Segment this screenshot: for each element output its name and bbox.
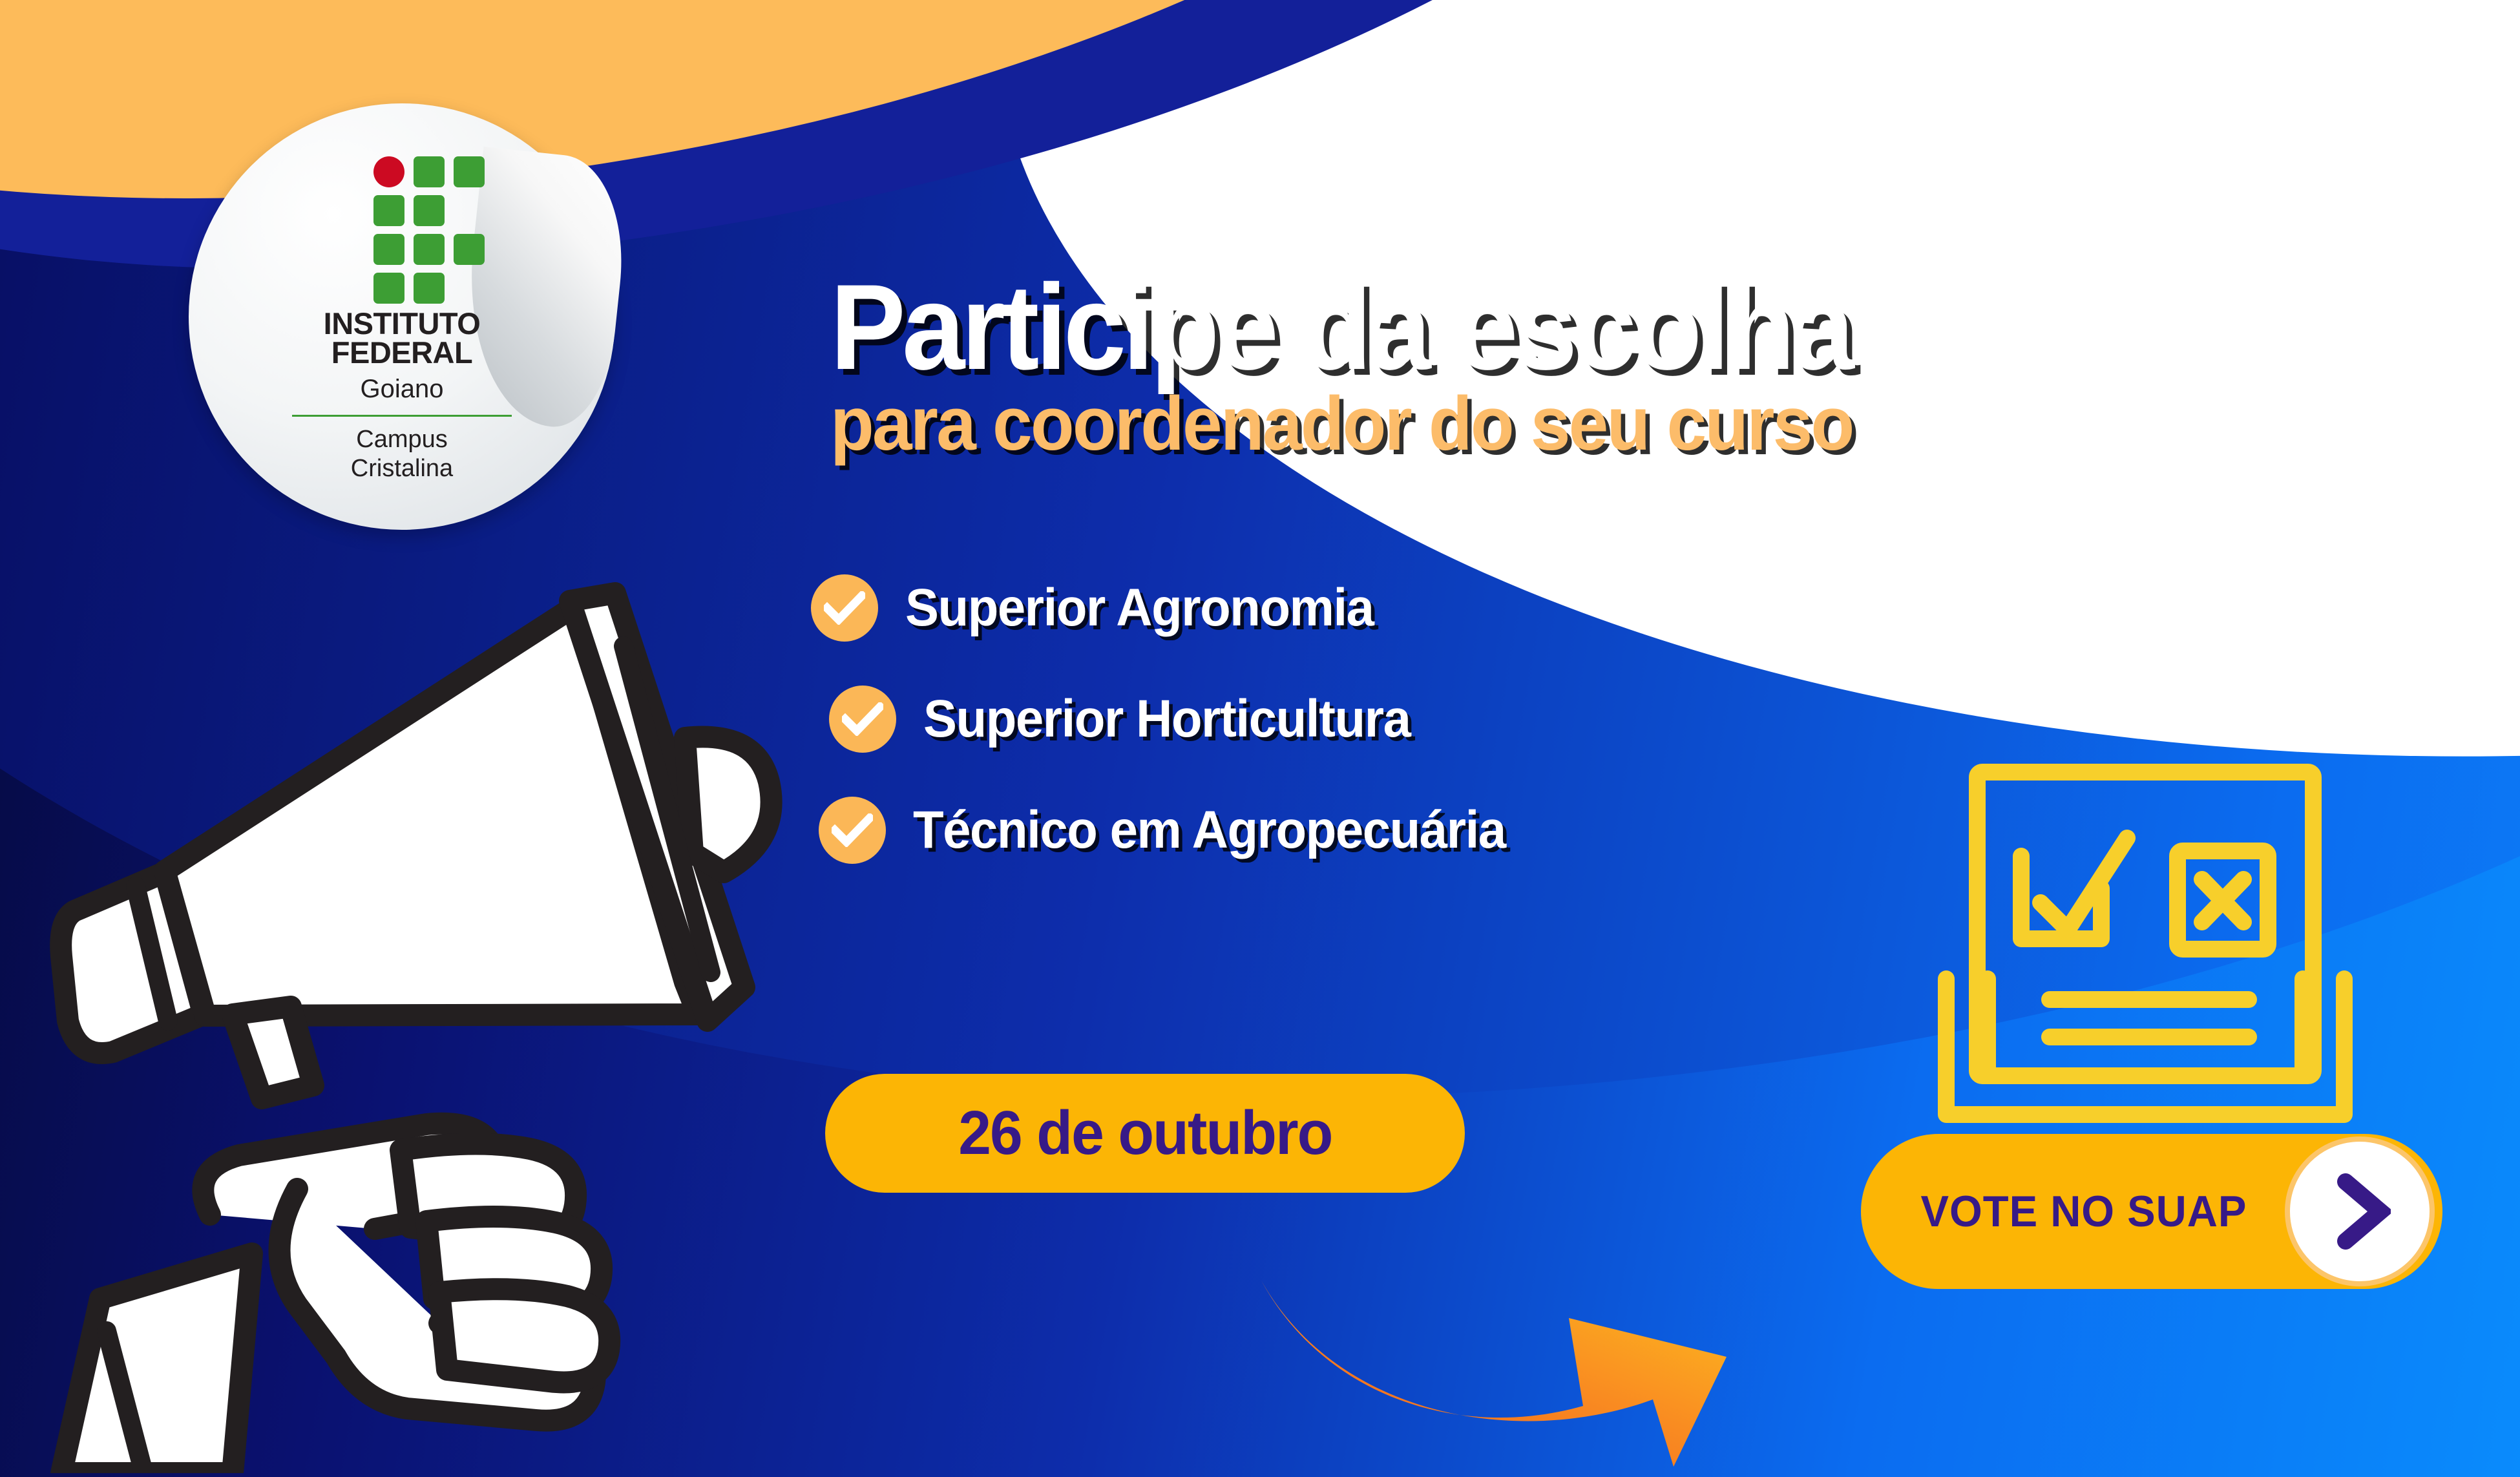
- ballot-box-icon: [1874, 753, 2417, 1140]
- course-label: Superior Horticultura: [923, 689, 1410, 749]
- vote-suap-label: VOTE NO SUAP: [1921, 1186, 2247, 1237]
- institution-logo-sticker: INSTITUTO FEDERAL Goiano Campus Cristali…: [189, 103, 615, 530]
- check-icon: [829, 686, 896, 753]
- list-item: Superior Agronomia: [811, 552, 2168, 664]
- vote-suap-button[interactable]: VOTE NO SUAP: [1861, 1134, 2442, 1289]
- course-label: Técnico em Agropecuária: [913, 800, 1506, 861]
- curved-arrow-icon: [1247, 1247, 1738, 1467]
- check-icon: [819, 797, 886, 864]
- megaphone-icon: [39, 569, 801, 1473]
- chevron-right-icon[interactable]: [2285, 1137, 2435, 1286]
- headline-secondary: para coordenador do seu curso: [830, 386, 2197, 462]
- logo-campus-label: Campus Cristalina: [189, 425, 615, 483]
- logo-campus-line2: Cristalina: [351, 455, 453, 482]
- logo-unit-label: Goiano: [189, 375, 615, 404]
- logo-institution-name: INSTITUTO FEDERAL: [189, 309, 615, 367]
- if-logo-mark: [373, 156, 485, 293]
- election-promo-banner: INSTITUTO FEDERAL Goiano Campus Cristali…: [0, 0, 2520, 1477]
- event-date-label: 26 de outubro: [958, 1098, 1332, 1169]
- headline-block: Participe da escolha para coordenador do…: [830, 271, 2284, 462]
- course-label: Superior Agronomia: [905, 578, 1374, 638]
- logo-name-line2: FEDERAL: [331, 335, 472, 370]
- logo-campus-line1: Campus: [356, 426, 448, 453]
- headline-primary: Participe da escolha: [830, 271, 2183, 383]
- event-date-badge: 26 de outubro: [825, 1074, 1465, 1193]
- check-icon: [811, 574, 878, 642]
- logo-divider: [292, 415, 512, 417]
